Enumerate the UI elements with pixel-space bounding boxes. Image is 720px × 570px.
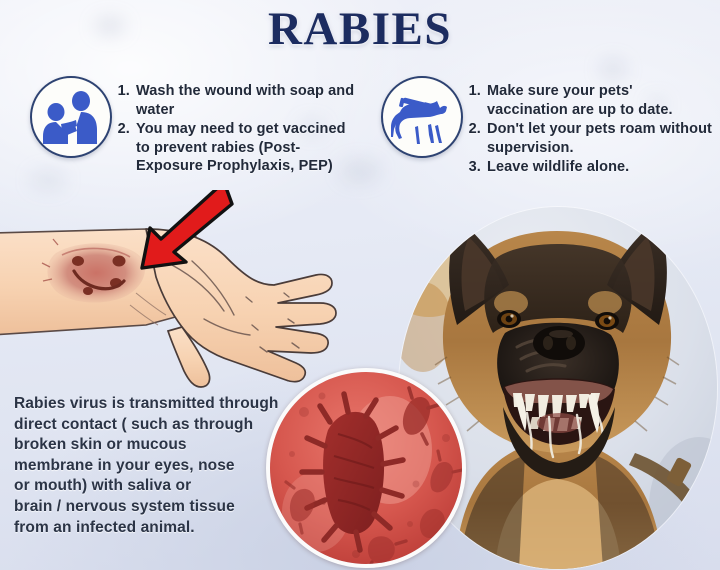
list-item: Wash the wound with soap and water bbox=[134, 82, 355, 119]
red-arrow-pointer bbox=[128, 190, 234, 276]
rabies-infographic-poster: RABIES Wash the wound with soap and wate… bbox=[0, 0, 720, 570]
list-item: You may need to get vaccined to prevent … bbox=[134, 120, 355, 176]
caption-line: direct contact ( such as through bbox=[14, 415, 282, 436]
rabies-virus-micrograph bbox=[266, 368, 466, 568]
list-item: Don't let your pets roam without supervi… bbox=[485, 120, 712, 157]
dog-vaccination-icon bbox=[381, 76, 463, 158]
patient-caregiver-icon bbox=[30, 76, 112, 158]
first-aid-steps: Wash the wound with soap and water You m… bbox=[113, 82, 355, 177]
prevention-steps: Make sure your pets' vaccination are up … bbox=[464, 82, 712, 178]
background-blob bbox=[600, 60, 626, 78]
background-blob bbox=[30, 170, 66, 190]
transmission-caption: Rabies virus is transmitted through dire… bbox=[14, 394, 282, 538]
caption-line: Rabies virus is transmitted through bbox=[14, 394, 282, 415]
caption-line: brain / nervous system tissue bbox=[14, 497, 282, 518]
list-item: Make sure your pets' vaccination are up … bbox=[485, 82, 712, 119]
caption-line: membrane in your eyes, nose bbox=[14, 456, 282, 477]
list-item: Leave wildlife alone. bbox=[485, 158, 712, 177]
caption-line: from an infected animal. bbox=[14, 518, 282, 539]
page-title: RABIES bbox=[0, 2, 720, 56]
caption-line: or mouth) with saliva or bbox=[14, 476, 282, 497]
caption-line: broken skin or mucous bbox=[14, 435, 282, 456]
